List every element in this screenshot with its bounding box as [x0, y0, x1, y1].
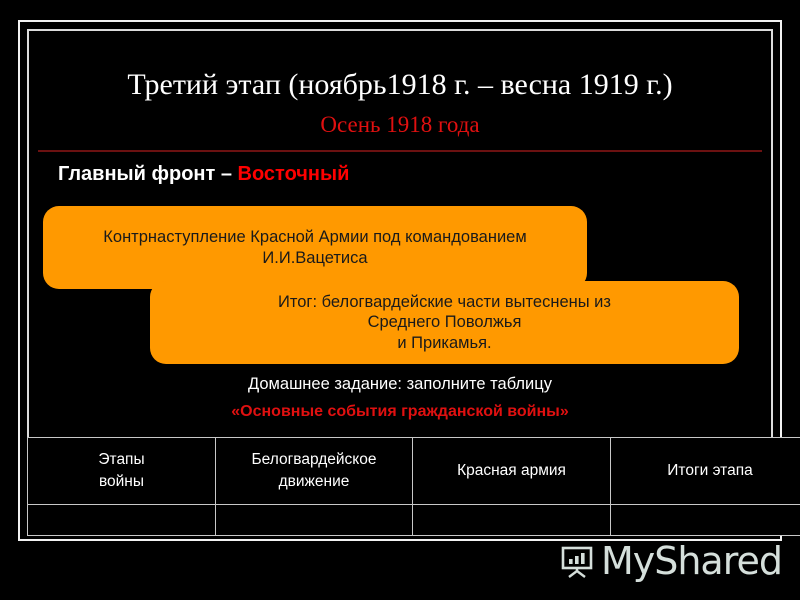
- callout-2-line-1: Итог: белогвардейские части вытеснены из: [160, 292, 729, 313]
- table-header-results-line-1: Итоги этапа: [614, 460, 800, 482]
- main-front-accent: Восточный: [238, 163, 350, 185]
- table-header-row: Этапы войны Белогвардейское движение Кра…: [28, 438, 800, 505]
- slide-subtitle: Осень 1918 года: [40, 112, 760, 137]
- callout-1-line-2: И.И.Вацетиса: [53, 248, 577, 269]
- table-row: [28, 505, 800, 536]
- myshared-watermark: MyShared: [559, 542, 782, 580]
- table-header-cell-results: Итоги этапа: [611, 438, 800, 505]
- flipchart-icon: [559, 543, 595, 579]
- events-table: Этапы войны Белогвардейское движение Кра…: [27, 437, 800, 536]
- table-cell-results-empty: [611, 505, 800, 536]
- callout-1-line-1: Контрнаступление Красной Армии под коман…: [53, 227, 577, 248]
- table-cell-stages-empty: [28, 505, 216, 536]
- table-header-stages-line-2: войны: [31, 471, 212, 493]
- table-header-cell-stages: Этапы войны: [28, 438, 216, 505]
- callout-box-result: Итог: белогвардейские части вытеснены из…: [150, 281, 739, 364]
- table-header-cell-redarmy: Красная армия: [413, 438, 611, 505]
- slide-title: Третий этап (ноябрь1918 г. – весна 1919 …: [40, 68, 760, 101]
- title-separator-rule: [38, 150, 762, 152]
- table-header-cell-whiteguard: Белогвардейское движение: [216, 438, 413, 505]
- table-header-redarmy-line-1: Красная армия: [416, 460, 607, 482]
- presentation-slide: Третий этап (ноябрь1918 г. – весна 1919 …: [0, 0, 800, 600]
- table-header-stages-line-1: Этапы: [31, 449, 212, 471]
- homework-instruction: Домашнее задание: заполните таблицу: [40, 375, 760, 394]
- table-cell-whiteguard-empty: [216, 505, 413, 536]
- callout-box-counteroffensive: Контрнаступление Красной Армии под коман…: [43, 206, 587, 289]
- callout-2-line-3: и Прикамья.: [160, 333, 729, 354]
- table-header-whiteguard-line-2: движение: [219, 471, 409, 493]
- callout-2-line-2: Среднего Поволжья: [160, 312, 729, 333]
- table-cell-redarmy-empty: [413, 505, 611, 536]
- watermark-label: MyShared: [601, 542, 782, 580]
- table-header-whiteguard-line-1: Белогвардейское: [219, 449, 409, 471]
- homework-table-title: «Основные события гражданской войны»: [40, 403, 760, 421]
- main-front-label: Главный фронт –: [58, 163, 238, 185]
- main-front-heading: Главный фронт – Восточный: [58, 163, 349, 186]
